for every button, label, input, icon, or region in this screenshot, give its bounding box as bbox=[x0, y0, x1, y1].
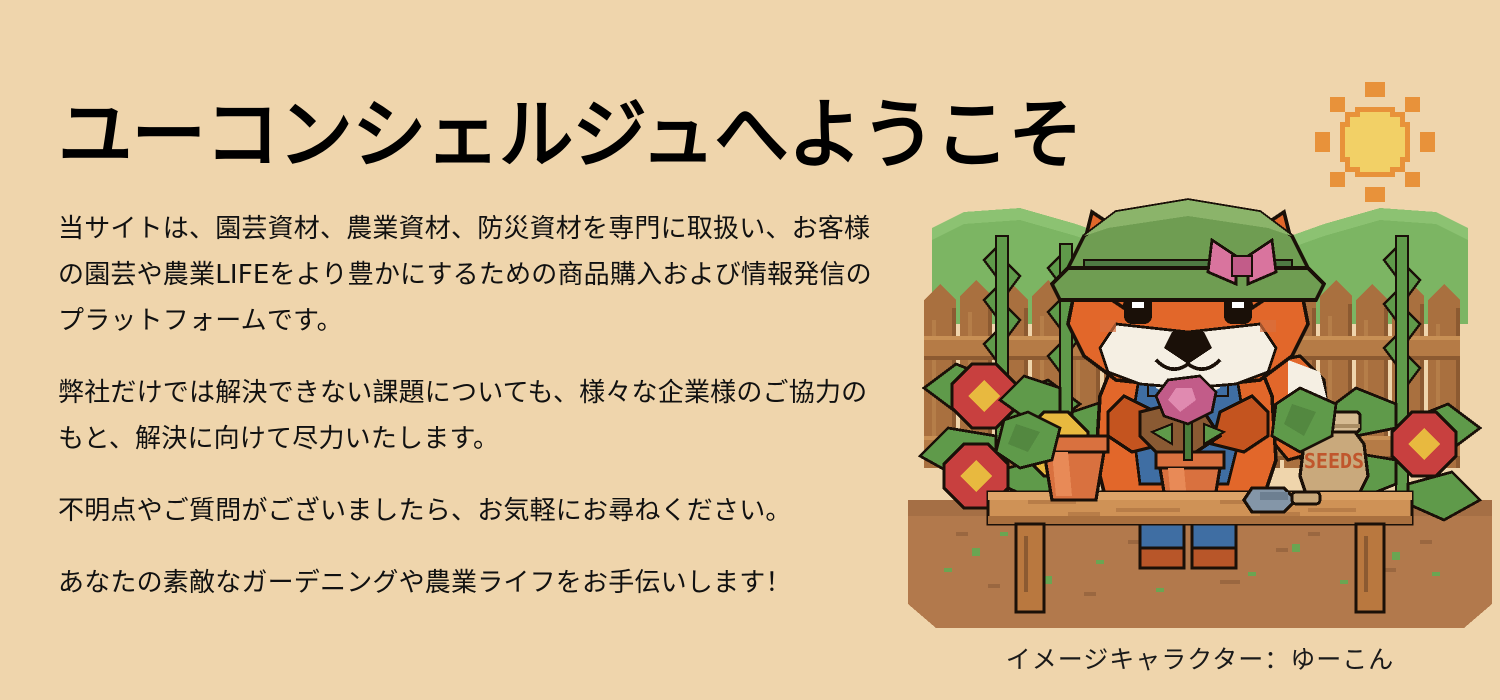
welcome-page: ユーコンシェルジュへようこそ 当サイトは、園芸資材、農業資材、防災資材を専門に取… bbox=[0, 0, 1500, 700]
flower-red-3 bbox=[1392, 412, 1456, 476]
paragraph-4: あなたの素敵なガーデニングや農業ライフをお手伝いします！ bbox=[58, 560, 882, 606]
paragraph-2: 弊社だけでは解決できない課題についても、様々な企業様のご協力のもと、解決に向けて… bbox=[58, 370, 882, 462]
text-column: ユーコンシェルジュへようこそ 当サイトは、園芸資材、農業資材、防災資材を専門に取… bbox=[0, 0, 900, 700]
jar-label: SEEDS bbox=[1304, 449, 1364, 473]
sun-icon bbox=[1315, 82, 1435, 202]
illustration-column: SEEDS bbox=[900, 0, 1500, 700]
paragraph-1: 当サイトは、園芸資材、農業資材、防災資材を専門に取扱い、お客様の園芸や農業LIF… bbox=[58, 206, 882, 344]
paragraph-3: 不明点やご質問がございましたら、お気軽にお尋ねください。 bbox=[58, 488, 882, 534]
illustration-caption: イメージキャラクター：ゆーこん bbox=[900, 640, 1500, 676]
fox-gardener-illustration: SEEDS bbox=[908, 188, 1492, 628]
body-copy: 当サイトは、園芸資材、農業資材、防災資材を専門に取扱い、お客様の園芸や農業LIF… bbox=[58, 206, 882, 606]
